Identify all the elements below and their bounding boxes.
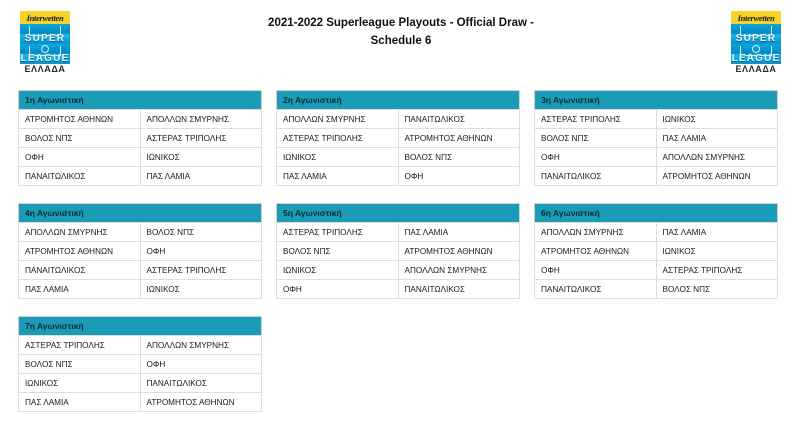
table-row: ΑΤΡΟΜΗΤΟΣ ΑΘΗΝΩΝΙΩΝΙΚΟΣ [535, 242, 778, 261]
table-header-row: 7η Αγωνιστική [19, 317, 262, 336]
home-team: ΑΤΡΟΜΗΤΟΣ ΑΘΗΝΩΝ [19, 242, 141, 261]
logo-band-super: SUPER [731, 24, 781, 44]
home-team: ΑΠΟΛΛΩΝ ΣΜΥΡΝΗΣ [535, 223, 657, 242]
page-title-line-2: Schedule 6 [201, 32, 601, 50]
interwetten-brand-icon: Interwetten [731, 11, 781, 24]
interwetten-brand-label: Interwetten [738, 13, 775, 23]
table-row: ΟΦΗΠΑΝΑΙΤΩΛΙΚΟΣ [277, 280, 520, 299]
home-team: ΠΑΝΑΙΤΩΛΙΚΟΣ [19, 261, 141, 280]
away-team: ΑΤΡΟΜΗΤΟΣ ΑΘΗΝΩΝ [398, 129, 520, 148]
matchday-table-1: 1η Αγωνιστική ΑΤΡΟΜΗΤΟΣ ΑΘΗΝΩΝΑΠΟΛΛΩΝ ΣΜ… [18, 90, 262, 186]
table-row: ΙΩΝΙΚΟΣΒΟΛΟΣ ΝΠΣ [277, 148, 520, 167]
table-row: ΒΟΛΟΣ ΝΠΣΑΣΤΕΡΑΣ ΤΡΙΠΟΛΗΣ [19, 129, 262, 148]
table-row: ΑΣΤΕΡΑΣ ΤΡΙΠΟΛΗΣΑΤΡΟΜΗΤΟΣ ΑΘΗΝΩΝ [277, 129, 520, 148]
home-team: ΟΦΗ [19, 148, 141, 167]
away-team: ΑΤΡΟΜΗΤΟΣ ΑΘΗΝΩΝ [656, 167, 778, 186]
home-team: ΒΟΛΟΣ ΝΠΣ [19, 355, 141, 374]
matchday-table-2: 2η Αγωνιστική ΑΠΟΛΛΩΝ ΣΜΥΡΝΗΣΠΑΝΑΙΤΩΛΙΚΟ… [276, 90, 520, 186]
table-row: ΑΠΟΛΛΩΝ ΣΜΥΡΝΗΣΠΑΣ ΛΑΜΙΑ [535, 223, 778, 242]
home-team: ΑΠΟΛΛΩΝ ΣΜΥΡΝΗΣ [277, 110, 399, 129]
table-header-row: 1η Αγωνιστική [19, 91, 262, 110]
home-team: ΙΩΝΙΚΟΣ [19, 374, 141, 393]
away-team: ΠΑΣ ΛΑΜΙΑ [656, 129, 778, 148]
logo-band-league: LEAGUE [731, 44, 781, 64]
logo-super-label: SUPER [20, 33, 70, 44]
matchday-table-4: 4η Αγωνιστική ΑΠΟΛΛΩΝ ΣΜΥΡΝΗΣΒΟΛΟΣ ΝΠΣ Α… [18, 203, 262, 299]
matchday-table-5: 5η Αγωνιστική ΑΣΤΕΡΑΣ ΤΡΙΠΟΛΗΣΠΑΣ ΛΑΜΙΑ … [276, 203, 520, 299]
away-team: ΒΟΛΟΣ ΝΠΣ [140, 223, 262, 242]
table-row: ΒΟΛΟΣ ΝΠΣΠΑΣ ΛΑΜΙΑ [535, 129, 778, 148]
home-team: ΠΑΣ ΛΑΜΙΑ [19, 280, 141, 299]
table-header-row: 3η Αγωνιστική [535, 91, 778, 110]
matchday-title: 4η Αγωνιστική [19, 204, 262, 223]
matchday-table-6: 6η Αγωνιστική ΑΠΟΛΛΩΝ ΣΜΥΡΝΗΣΠΑΣ ΛΑΜΙΑ Α… [534, 203, 778, 299]
matchday-title: 6η Αγωνιστική [535, 204, 778, 223]
superleague-logo-left: Interwetten SUPER LEAGUE ΕΛΛΑΔΑ [20, 11, 70, 87]
table-header-row: 4η Αγωνιστική [19, 204, 262, 223]
away-team: ΒΟΛΟΣ ΝΠΣ [656, 280, 778, 299]
home-team: ΒΟΛΟΣ ΝΠΣ [19, 129, 141, 148]
home-team: ΟΦΗ [535, 148, 657, 167]
matchday-row-1: 1η Αγωνιστική ΑΤΡΟΜΗΤΟΣ ΑΘΗΝΩΝΑΠΟΛΛΩΝ ΣΜ… [18, 90, 780, 186]
interwetten-brand-icon: Interwetten [20, 11, 70, 24]
matchday-title: 7η Αγωνιστική [19, 317, 262, 336]
home-team: ΠΑΣ ΛΑΜΙΑ [19, 393, 141, 412]
page-title-line-1: 2021-2022 Superleague Playouts - Officia… [201, 14, 601, 32]
away-team: ΠΑΣ ΛΑΜΙΑ [140, 167, 262, 186]
home-team: ΟΦΗ [535, 261, 657, 280]
away-team: ΙΩΝΙΚΟΣ [140, 280, 262, 299]
table-header-row: 2η Αγωνιστική [277, 91, 520, 110]
away-team: ΠΑΝΑΙΤΩΛΙΚΟΣ [398, 280, 520, 299]
interwetten-brand-label: Interwetten [27, 13, 64, 23]
away-team: ΠΑΣ ΛΑΜΙΑ [656, 223, 778, 242]
away-team: ΑΠΟΛΛΩΝ ΣΜΥΡΝΗΣ [656, 148, 778, 167]
away-team: ΙΩΝΙΚΟΣ [656, 242, 778, 261]
table-row: ΑΤΡΟΜΗΤΟΣ ΑΘΗΝΩΝΑΠΟΛΛΩΝ ΣΜΥΡΝΗΣ [19, 110, 262, 129]
logo-band-league: LEAGUE [20, 44, 70, 64]
matchday-title: 2η Αγωνιστική [277, 91, 520, 110]
home-team: ΑΣΤΕΡΑΣ ΤΡΙΠΟΛΗΣ [277, 223, 399, 242]
logo-country-label: ΕΛΛΑΔΑ [731, 64, 781, 75]
matchday-title: 1η Αγωνιστική [19, 91, 262, 110]
table-row: ΑΣΤΕΡΑΣ ΤΡΙΠΟΛΗΣΑΠΟΛΛΩΝ ΣΜΥΡΝΗΣ [19, 336, 262, 355]
home-team: ΙΩΝΙΚΟΣ [277, 261, 399, 280]
home-team: ΠΑΝΑΙΤΩΛΙΚΟΣ [535, 280, 657, 299]
away-team: ΒΟΛΟΣ ΝΠΣ [398, 148, 520, 167]
table-row: ΟΦΗΙΩΝΙΚΟΣ [19, 148, 262, 167]
home-team: ΒΟΛΟΣ ΝΠΣ [535, 129, 657, 148]
table-row: ΑΠΟΛΛΩΝ ΣΜΥΡΝΗΣΠΑΝΑΙΤΩΛΙΚΟΣ [277, 110, 520, 129]
logo-league-label: LEAGUE [731, 53, 781, 64]
home-team: ΑΤΡΟΜΗΤΟΣ ΑΘΗΝΩΝ [19, 110, 141, 129]
away-team: ΙΩΝΙΚΟΣ [656, 110, 778, 129]
away-team: ΟΦΗ [140, 355, 262, 374]
matchday-title: 3η Αγωνιστική [535, 91, 778, 110]
home-team: ΙΩΝΙΚΟΣ [277, 148, 399, 167]
home-team: ΠΑΝΑΙΤΩΛΙΚΟΣ [19, 167, 141, 186]
matchday-title: 5η Αγωνιστική [277, 204, 520, 223]
page-title: 2021-2022 Superleague Playouts - Officia… [201, 14, 601, 50]
table-row: ΠΑΣ ΛΑΜΙΑΑΤΡΟΜΗΤΟΣ ΑΘΗΝΩΝ [19, 393, 262, 412]
superleague-logo-right: Interwetten SUPER LEAGUE ΕΛΛΑΔΑ [731, 11, 781, 87]
away-team: ΑΣΤΕΡΑΣ ΤΡΙΠΟΛΗΣ [140, 129, 262, 148]
matchday-row-2: 4η Αγωνιστική ΑΠΟΛΛΩΝ ΣΜΥΡΝΗΣΒΟΛΟΣ ΝΠΣ Α… [18, 203, 780, 299]
table-row: ΟΦΗΑΣΤΕΡΑΣ ΤΡΙΠΟΛΗΣ [535, 261, 778, 280]
table-row: ΑΣΤΕΡΑΣ ΤΡΙΠΟΛΗΣΠΑΣ ΛΑΜΙΑ [277, 223, 520, 242]
table-header-row: 5η Αγωνιστική [277, 204, 520, 223]
away-team: ΑΣΤΕΡΑΣ ΤΡΙΠΟΛΗΣ [656, 261, 778, 280]
away-team: ΑΤΡΟΜΗΤΟΣ ΑΘΗΝΩΝ [398, 242, 520, 261]
matchday-table-7: 7η Αγωνιστική ΑΣΤΕΡΑΣ ΤΡΙΠΟΛΗΣΑΠΟΛΛΩΝ ΣΜ… [18, 316, 262, 412]
away-team: ΠΑΝΑΙΤΩΛΙΚΟΣ [140, 374, 262, 393]
logo-super-label: SUPER [731, 33, 781, 44]
matchday-row-3: 7η Αγωνιστική ΑΣΤΕΡΑΣ ΤΡΙΠΟΛΗΣΑΠΟΛΛΩΝ ΣΜ… [18, 316, 780, 412]
home-team: ΑΣΤΕΡΑΣ ΤΡΙΠΟΛΗΣ [19, 336, 141, 355]
away-team: ΑΤΡΟΜΗΤΟΣ ΑΘΗΝΩΝ [140, 393, 262, 412]
away-team: ΟΦΗ [140, 242, 262, 261]
away-team: ΑΠΟΛΛΩΝ ΣΜΥΡΝΗΣ [140, 110, 262, 129]
logo-country-label: ΕΛΛΑΔΑ [20, 64, 70, 75]
table-header-row: 6η Αγωνιστική [535, 204, 778, 223]
table-row: ΠΑΝΑΙΤΩΛΙΚΟΣΠΑΣ ΛΑΜΙΑ [19, 167, 262, 186]
table-row: ΠΑΣ ΛΑΜΙΑΟΦΗ [277, 167, 520, 186]
home-team: ΠΑΝΑΙΤΩΛΙΚΟΣ [535, 167, 657, 186]
table-row: ΑΠΟΛΛΩΝ ΣΜΥΡΝΗΣΒΟΛΟΣ ΝΠΣ [19, 223, 262, 242]
away-team: ΑΣΤΕΡΑΣ ΤΡΙΠΟΛΗΣ [140, 261, 262, 280]
table-row: ΟΦΗΑΠΟΛΛΩΝ ΣΜΥΡΝΗΣ [535, 148, 778, 167]
away-team: ΙΩΝΙΚΟΣ [140, 148, 262, 167]
table-row: ΒΟΛΟΣ ΝΠΣΟΦΗ [19, 355, 262, 374]
table-row: ΙΩΝΙΚΟΣΠΑΝΑΙΤΩΛΙΚΟΣ [19, 374, 262, 393]
home-team: ΑΣΤΕΡΑΣ ΤΡΙΠΟΛΗΣ [535, 110, 657, 129]
away-team: ΟΦΗ [398, 167, 520, 186]
home-team: ΑΣΤΕΡΑΣ ΤΡΙΠΟΛΗΣ [277, 129, 399, 148]
away-team: ΠΑΣ ΛΑΜΙΑ [398, 223, 520, 242]
table-row: ΙΩΝΙΚΟΣΑΠΟΛΛΩΝ ΣΜΥΡΝΗΣ [277, 261, 520, 280]
matchday-board: 1η Αγωνιστική ΑΤΡΟΜΗΤΟΣ ΑΘΗΝΩΝΑΠΟΛΛΩΝ ΣΜ… [18, 90, 780, 429]
table-row: ΑΣΤΕΡΑΣ ΤΡΙΠΟΛΗΣΙΩΝΙΚΟΣ [535, 110, 778, 129]
table-row: ΠΑΝΑΙΤΩΛΙΚΟΣΑΤΡΟΜΗΤΟΣ ΑΘΗΝΩΝ [535, 167, 778, 186]
logo-band-super: SUPER [20, 24, 70, 44]
home-team: ΠΑΣ ΛΑΜΙΑ [277, 167, 399, 186]
table-row: ΠΑΝΑΙΤΩΛΙΚΟΣΑΣΤΕΡΑΣ ΤΡΙΠΟΛΗΣ [19, 261, 262, 280]
home-team: ΟΦΗ [277, 280, 399, 299]
logo-league-label: LEAGUE [20, 53, 70, 64]
matchday-table-3: 3η Αγωνιστική ΑΣΤΕΡΑΣ ΤΡΙΠΟΛΗΣΙΩΝΙΚΟΣ ΒΟ… [534, 90, 778, 186]
home-team: ΒΟΛΟΣ ΝΠΣ [277, 242, 399, 261]
table-row: ΒΟΛΟΣ ΝΠΣΑΤΡΟΜΗΤΟΣ ΑΘΗΝΩΝ [277, 242, 520, 261]
table-row: ΠΑΣ ΛΑΜΙΑΙΩΝΙΚΟΣ [19, 280, 262, 299]
home-team: ΑΤΡΟΜΗΤΟΣ ΑΘΗΝΩΝ [535, 242, 657, 261]
away-team: ΠΑΝΑΙΤΩΛΙΚΟΣ [398, 110, 520, 129]
table-row: ΠΑΝΑΙΤΩΛΙΚΟΣΒΟΛΟΣ ΝΠΣ [535, 280, 778, 299]
home-team: ΑΠΟΛΛΩΝ ΣΜΥΡΝΗΣ [19, 223, 141, 242]
away-team: ΑΠΟΛΛΩΝ ΣΜΥΡΝΗΣ [140, 336, 262, 355]
table-row: ΑΤΡΟΜΗΤΟΣ ΑΘΗΝΩΝΟΦΗ [19, 242, 262, 261]
away-team: ΑΠΟΛΛΩΝ ΣΜΥΡΝΗΣ [398, 261, 520, 280]
